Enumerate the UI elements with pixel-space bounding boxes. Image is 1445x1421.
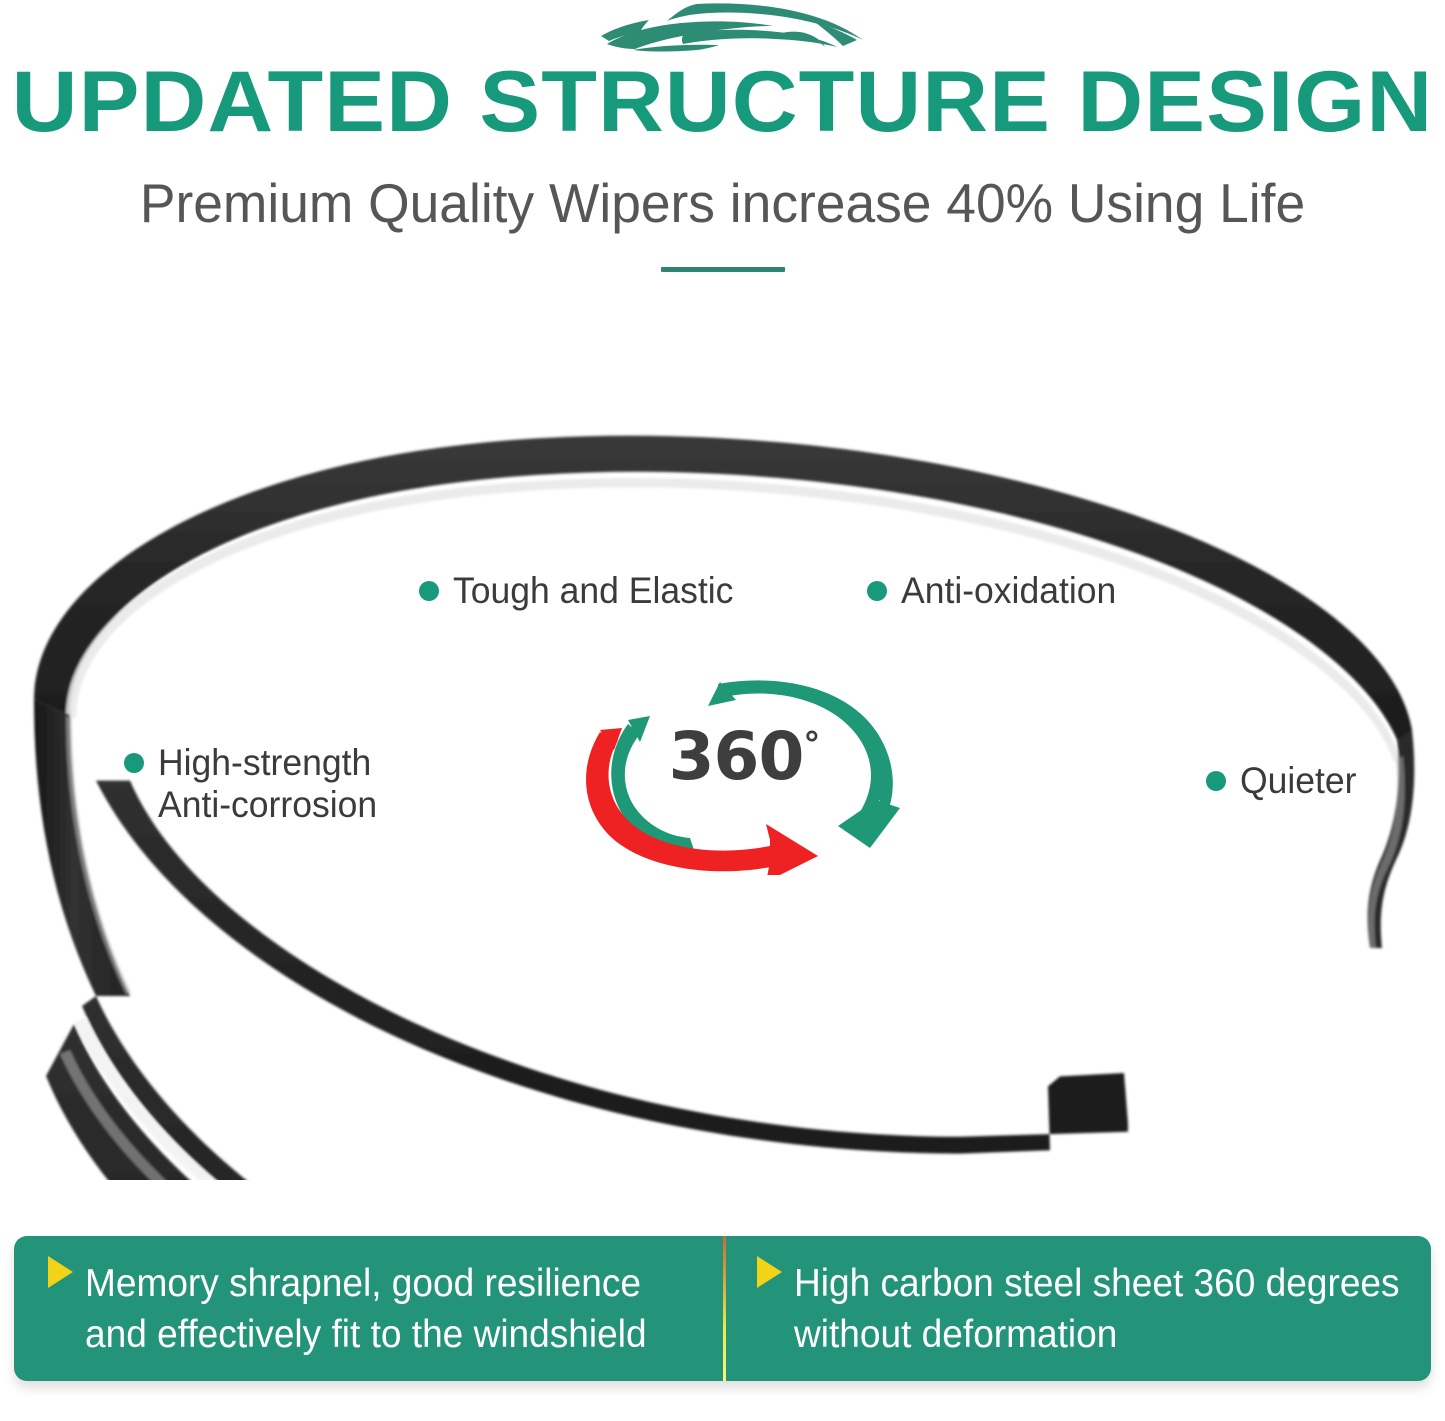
triangle-right-icon [757,1256,782,1288]
bullet-dot-icon [867,581,887,601]
feature-quieter: Quieter [1206,760,1361,802]
feature-label-line-2: Anti-corrosion [158,784,377,826]
bullet-dot-icon [419,581,439,601]
feature-high-strength-anti-corrosion: High-strength Anti-corrosion [124,742,386,826]
feature-label: Quieter [1240,760,1356,802]
banner-pane-left: Memory shrapnel, good resilience and eff… [14,1236,723,1381]
page-title: UPDATED STRUCTURE DESIGN [0,56,1445,148]
feature-label: Anti-oxidation [901,570,1116,612]
feature-label: Tough and Elastic [453,570,733,612]
banner-text-left: Memory shrapnel, good resilience and eff… [85,1258,647,1360]
banner-pane-right: High carbon steel sheet 360 degrees with… [723,1236,1432,1381]
header-section: UPDATED STRUCTURE DESIGN Premium Quality… [0,0,1445,300]
360-degree-badge: 360° [570,650,930,875]
page-subtitle: Premium Quality Wipers increase 40% Usin… [22,172,1424,234]
title-underline [661,267,785,272]
banner-text-right: High carbon steel sheet 360 degrees with… [794,1258,1400,1360]
car-silhouette-icon [585,2,875,58]
feature-tough-and-elastic: Tough and Elastic [419,570,745,612]
feature-label-group: High-strength Anti-corrosion [158,742,386,826]
bottom-feature-banner: Memory shrapnel, good resilience and eff… [14,1236,1431,1381]
triangle-right-icon [48,1256,73,1288]
bullet-dot-icon [124,753,144,773]
rotation-arrows-icon [570,650,930,875]
feature-anti-oxidation: Anti-oxidation [867,570,1125,612]
bullet-dot-icon [1206,771,1226,791]
feature-label-line-1: High-strength [158,742,377,784]
